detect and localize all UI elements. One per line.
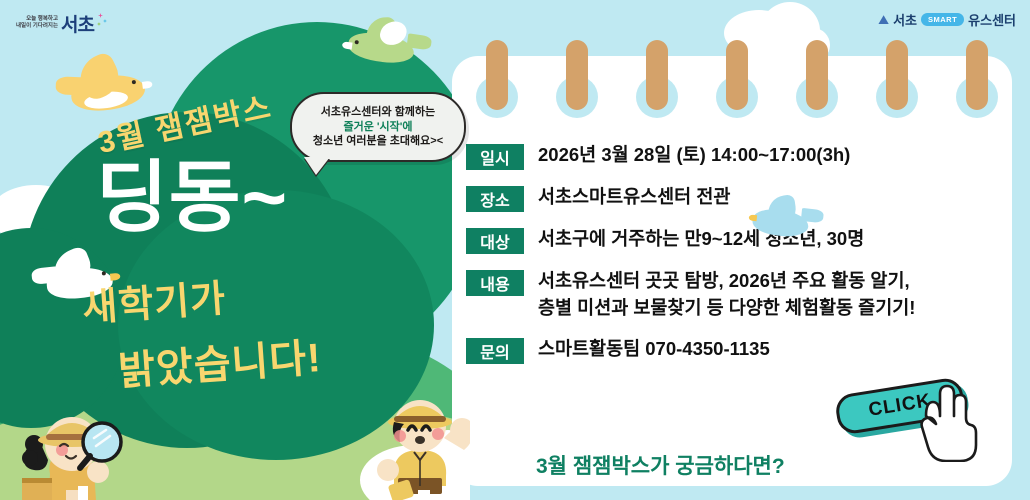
detail-row-label: 대상 [466, 228, 524, 254]
youth-center-logo: ⛰ 서초 SMART 유스센터 [878, 10, 1016, 29]
cursor-hand-icon [908, 382, 978, 462]
seocho-slogan-line-1: 오늘 행복하고 [16, 16, 58, 23]
seocho-logo-name: 서초 [61, 10, 94, 37]
binder-ring-bar [726, 40, 748, 110]
hero-line-3: 새학기가 [80, 267, 227, 332]
details-rows: 일시2026년 3월 28일 (토) 14:00~17:00(3h)장소서초스마… [466, 142, 1002, 378]
detail-row-value-line-1: 2026년 3월 28일 (토) 14:00~17:00(3h) [538, 144, 850, 165]
binder-ring [886, 40, 908, 110]
detail-row-label: 장소 [466, 186, 524, 212]
detail-row-value-line-1: 서초유스센터 곳곳 탐방, 2026년 주요 활동 알기, [538, 270, 910, 291]
speech-bubble: 서초유스센터와 함께하는 즐거운 '시작'에 청소년 여러분을 초대해요>< [290, 92, 466, 162]
binder-ring [966, 40, 988, 110]
detail-row: 문의스마트활동팀 070-4350-1135 [466, 336, 1002, 364]
explorer-girl-character [10, 382, 138, 500]
binder-ring-bar [566, 40, 588, 110]
binder-ring-bar [646, 40, 668, 110]
detail-row: 대상서초구에 거주하는 만9~12세 청소년, 30명 [466, 226, 1002, 254]
detail-row-value-line-1: 서초스마트유스센터 전관 [538, 186, 730, 207]
detail-row-value: 서초유스센터 곳곳 탐방, 2026년 주요 활동 알기,층별 미션과 보물찾기… [538, 268, 915, 322]
detail-row-label: 내용 [466, 270, 524, 296]
binder-ring [646, 40, 668, 110]
binder-ring-bar [886, 40, 908, 110]
smart-pill-badge: SMART [921, 13, 964, 26]
youth-center-text-before: 서초 [893, 10, 917, 29]
binder-ring [486, 40, 508, 110]
seocho-slogan: 오늘 행복하고 내일이 기다려지는 [16, 16, 58, 31]
illustration-scene [0, 0, 470, 500]
detail-row-value-line-2: 층별 미션과 보물찾기 등 다양한 체험활동 즐기기! [538, 295, 915, 322]
sparkle-icon [94, 13, 108, 33]
detail-row-value: 서초스마트유스센터 전관 [538, 184, 730, 211]
speech-bubble-tail [304, 157, 330, 175]
binder-ring-bar [486, 40, 508, 110]
detail-row: 장소서초스마트유스센터 전관 [466, 184, 1002, 212]
speech-bubble-line-2: 즐거운 '시작'에 [343, 120, 412, 135]
seocho-slogan-line-2: 내일이 기다려지는 [16, 23, 58, 30]
teaser-text: 3월 잼잼박스가 궁금하다면? [536, 450, 785, 480]
seocho-logo: 오늘 행복하고 내일이 기다려지는 서초 [16, 8, 108, 38]
explorer-boy-character [370, 386, 470, 500]
page-title: 딩동~ [96, 158, 288, 236]
binder-ring-bar [966, 40, 988, 110]
youth-center-icon: ⛰ [878, 12, 889, 28]
detail-row-label: 문의 [466, 338, 524, 364]
detail-row: 내용서초유스센터 곳곳 탐방, 2026년 주요 활동 알기,층별 미션과 보물… [466, 268, 1002, 322]
binder-rings [474, 40, 1014, 112]
binder-ring [566, 40, 588, 110]
speech-bubble-line-3: 청소년 여러분을 초대해요>< [313, 134, 443, 149]
detail-row-value: 스마트활동팀 070-4350-1135 [538, 336, 770, 363]
event-poster: 3월 잼잼박스 딩동~ 새학기가 밝았습니다! 서초유스센터와 함께하는 즐거운… [0, 0, 1030, 500]
youth-center-text-after: 유스센터 [968, 10, 1016, 29]
binder-ring [726, 40, 748, 110]
detail-row-value: 2026년 3월 28일 (토) 14:00~17:00(3h) [538, 142, 850, 169]
blue-bird-icon [745, 192, 821, 243]
binder-ring [806, 40, 828, 110]
binder-ring-bar [806, 40, 828, 110]
detail-row-label: 일시 [466, 144, 524, 170]
detail-row-value-line-1: 스마트활동팀 070-4350-1135 [538, 338, 770, 359]
detail-row: 일시2026년 3월 28일 (토) 14:00~17:00(3h) [466, 142, 1002, 170]
speech-bubble-line-1: 서초유스센터와 함께하는 [321, 105, 435, 120]
